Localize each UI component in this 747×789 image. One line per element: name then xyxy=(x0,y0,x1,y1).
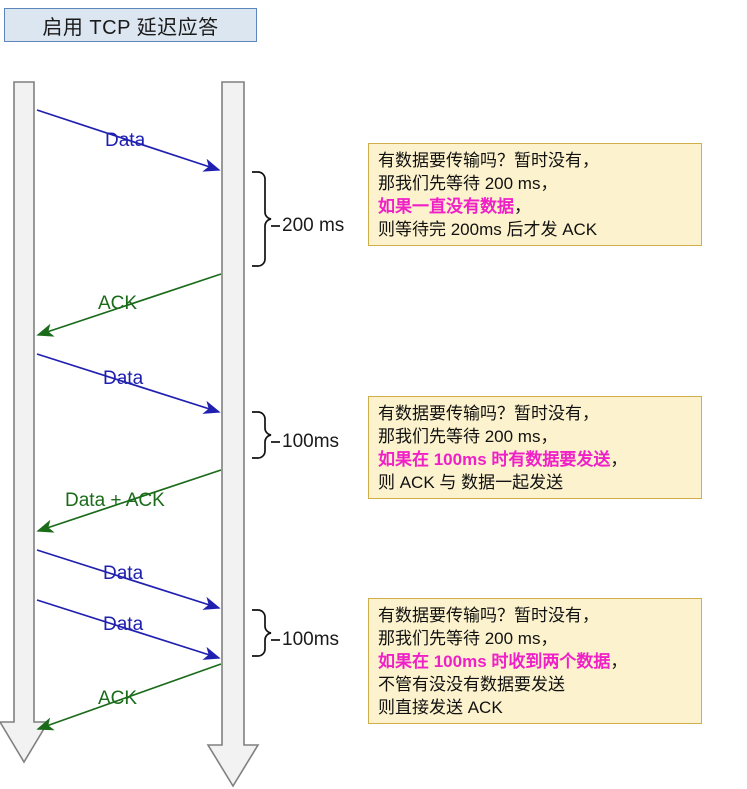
brace-100ms-2 xyxy=(252,610,280,656)
note-line: 则等待完 200ms 后才发 ACK xyxy=(378,218,693,241)
note-line: 有数据要传输吗？暂时没有， xyxy=(378,604,693,627)
note-text: 那我们先等待 200 ms， xyxy=(378,427,557,446)
note-box-200ms-wait: 有数据要传输吗？暂时没有，那我们先等待 200 ms，如果一直没有数据，则等待完… xyxy=(368,143,702,246)
message-label-data-2: Data xyxy=(103,368,143,390)
message-label-ack-1: ACK xyxy=(98,293,137,315)
note-text: 那我们先等待 200 ms， xyxy=(378,174,557,193)
note-line: 那我们先等待 200 ms， xyxy=(378,425,693,448)
note-text: ， xyxy=(610,450,627,469)
note-line: 则 ACK 与 数据一起发送 xyxy=(378,471,693,494)
note-line: 如果在 100ms 时收到两个数据， xyxy=(378,650,693,673)
note-line: 则直接发送 ACK xyxy=(378,696,693,719)
note-line: 如果一直没有数据， xyxy=(378,195,693,218)
message-label-data-1: Data xyxy=(105,130,145,152)
note-line: 如果在 100ms 时有数据要发送， xyxy=(378,448,693,471)
note-text: 有数据要传输吗？暂时没有， xyxy=(378,606,599,625)
note-text: 有数据要传输吗？暂时没有， xyxy=(378,404,599,423)
note-box-100ms-send: 有数据要传输吗？暂时没有，那我们先等待 200 ms，如果在 100ms 时有数… xyxy=(368,396,702,499)
diagram-canvas: 启用 TCP 延迟应答 xyxy=(0,0,747,789)
brace-label-200ms: 200 ms xyxy=(282,215,344,237)
note-text: 不管有没没有数据要发送 xyxy=(378,675,565,694)
note-highlight-text: 如果在 100ms 时有数据要发送 xyxy=(378,450,610,469)
note-text: ， xyxy=(514,197,531,216)
note-highlight-text: 如果在 100ms 时收到两个数据 xyxy=(378,652,610,671)
note-line: 那我们先等待 200 ms， xyxy=(378,627,693,650)
brace-label-100ms-1: 100ms xyxy=(282,431,339,453)
note-text: 则直接发送 ACK xyxy=(378,698,503,717)
message-label-data-4: Data xyxy=(103,614,143,636)
note-text: 则 ACK 与 数据一起发送 xyxy=(378,473,563,492)
brace-label-100ms-2: 100ms xyxy=(282,629,339,651)
note-text: 则等待完 200ms 后才发 ACK xyxy=(378,220,597,239)
message-label-data-3: Data xyxy=(103,563,143,585)
note-text: 有数据要传输吗？暂时没有， xyxy=(378,151,599,170)
server-timeline xyxy=(208,82,258,786)
note-line: 有数据要传输吗？暂时没有， xyxy=(378,149,693,172)
message-label-ack-2: ACK xyxy=(98,688,137,710)
brace-200ms xyxy=(252,172,280,266)
note-box-100ms-two-packets: 有数据要传输吗？暂时没有，那我们先等待 200 ms，如果在 100ms 时收到… xyxy=(368,598,702,724)
client-timeline xyxy=(0,82,48,762)
note-text: 那我们先等待 200 ms， xyxy=(378,629,557,648)
message-label-data-ack: Data + ACK xyxy=(65,490,165,512)
brace-100ms-1 xyxy=(252,412,280,458)
note-line: 不管有没没有数据要发送 xyxy=(378,673,693,696)
note-line: 那我们先等待 200 ms， xyxy=(378,172,693,195)
note-line: 有数据要传输吗？暂时没有， xyxy=(378,402,693,425)
note-highlight-text: 如果一直没有数据 xyxy=(378,197,514,216)
note-text: ， xyxy=(610,652,627,671)
